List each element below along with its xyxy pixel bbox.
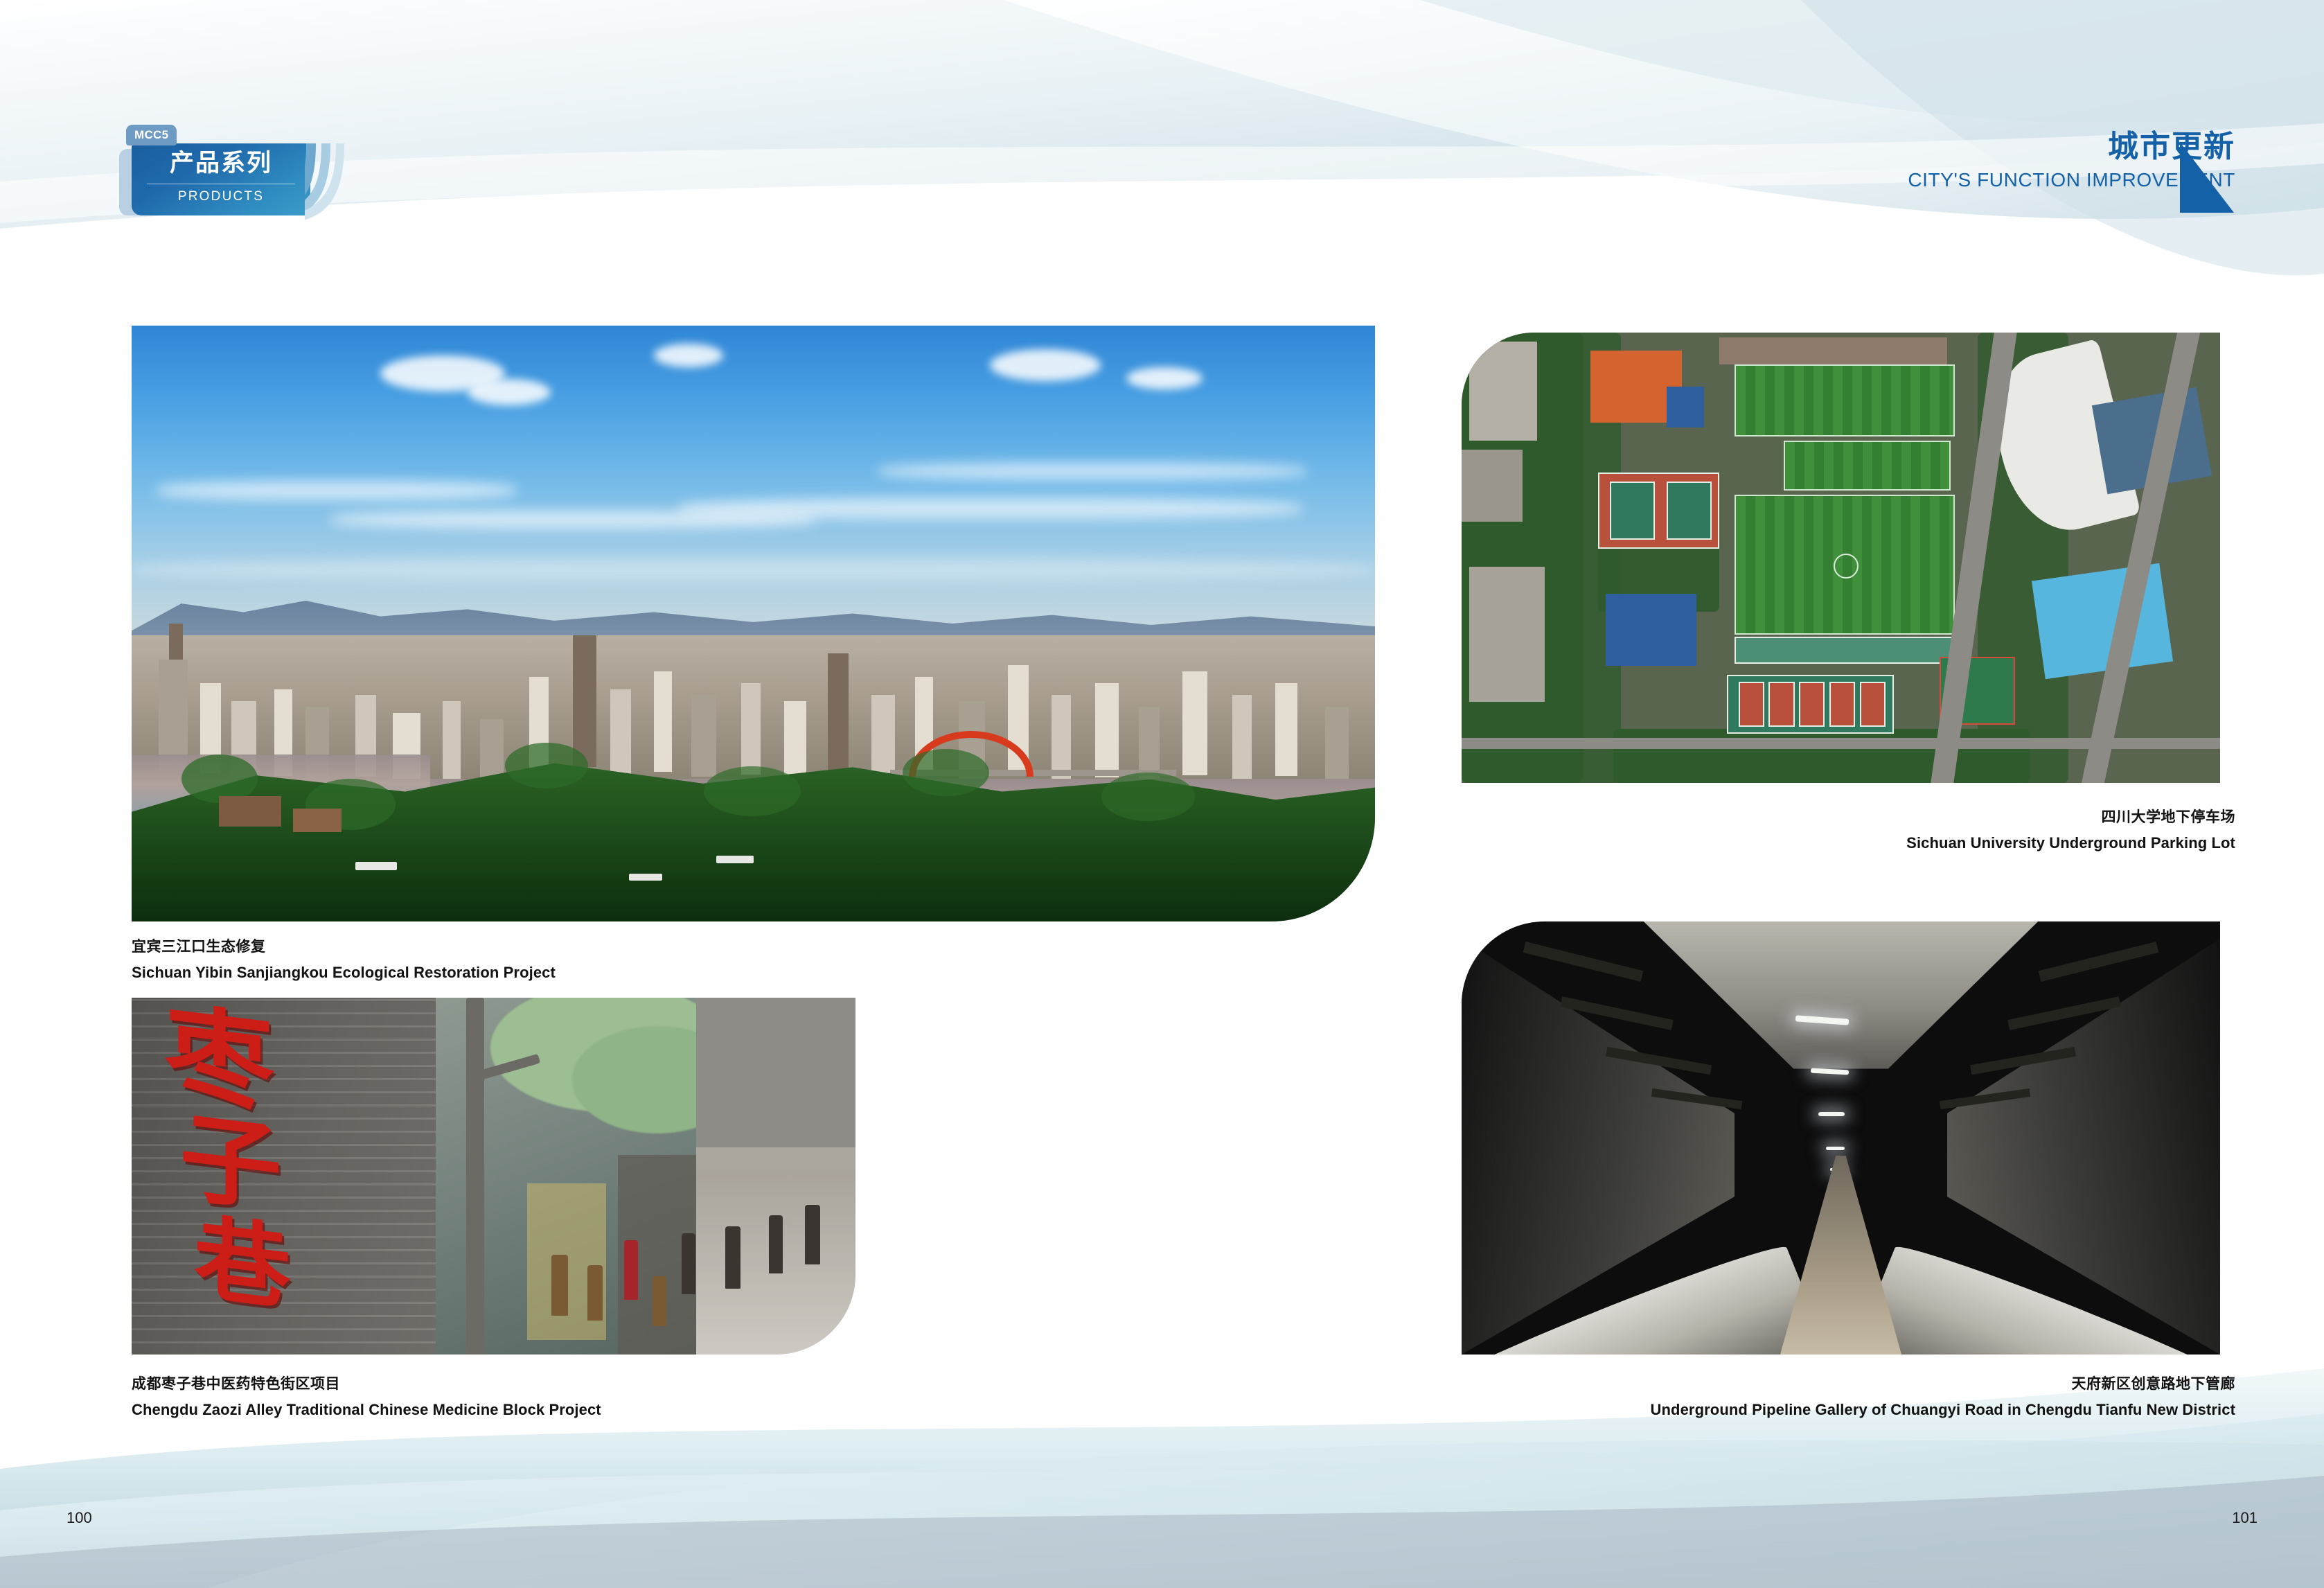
building-roof [1606,594,1696,666]
ceiling-light [1818,1112,1845,1116]
pedestrian [769,1215,783,1273]
building [1232,695,1252,779]
bronze-statue [653,1276,666,1326]
caption-en: Sichuan University Underground Parking L… [1473,832,2235,854]
mcc5-badge: MCC5 [126,125,177,145]
page-number-right: 101 [2232,1509,2258,1527]
bronze-statue [587,1265,603,1321]
building [871,695,895,778]
caption-cn: 四川大学地下停车场 [1473,807,2235,828]
football-pitch [1735,364,1955,436]
building [691,695,716,777]
tennis-court [1610,482,1656,540]
center-circle [1834,554,1859,579]
tree [704,766,801,816]
basketball-court [1799,682,1825,727]
caption-yibin-sanjiangkou: 宜宾三江口生态修复 Sichuan Yibin Sanjiangkou Ecol… [132,937,556,984]
triangle-accent-icon [2176,142,2235,217]
pedestrian [624,1240,638,1300]
photo-chengdu-zaozi-alley[interactable]: 枣 子 巷 [132,998,855,1355]
brand-section-tab: 产品系列 PRODUCTS MCC5 [126,143,337,216]
tunnel-illustration [1462,921,2220,1355]
brand-tab-arc-decoration [305,143,360,215]
multipurpose-courts [1735,637,1955,664]
tennis-court [1667,482,1712,540]
brand-tab-title-cn: 产品系列 [132,149,310,178]
caption-en: Sichuan Yibin Sanjiangkou Ecological Res… [132,962,556,984]
tree [505,743,588,788]
street-buildings [696,998,855,1147]
basketball-court [1739,682,1764,727]
cloud [157,481,517,500]
pedestrian [682,1233,695,1294]
building [1275,683,1297,776]
section-title-cn: 城市更新 [1543,128,2235,166]
boat [629,874,662,881]
cloud [990,349,1101,381]
caption-sichuan-university-parking: 四川大学地下停车场 Sichuan University Underground… [1473,807,2235,854]
brochure-spread: 产品系列 PRODUCTS MCC5 城市更新 CITY'S FUNCTION … [0,0,2324,1588]
cloud [878,463,1307,479]
brand-tab-panel: 产品系列 PRODUCTS [132,143,310,215]
cloud [132,558,1375,581]
building [443,701,461,779]
caption-en: Chengdu Zaozi Alley Traditional Chinese … [132,1399,601,1421]
building [784,701,806,777]
mural-tree-trunk [466,998,484,1355]
bronze-statue [551,1255,568,1316]
photo-yibin-sanjiangkou[interactable] [132,326,1375,921]
building [828,653,849,771]
building-roof [1667,387,1705,427]
street-pavement [696,998,855,1355]
boat [716,856,754,863]
pedestrian [805,1205,820,1264]
caption-chengdu-zaozi-alley: 成都枣子巷中医药特色街区项目 Chengdu Zaozi Alley Tradi… [132,1374,601,1421]
page-number-left: 100 [66,1509,92,1527]
building [1095,683,1119,777]
basketball-court [1768,682,1794,727]
tree [1101,773,1195,821]
swimming-hall-roof [2032,563,2173,679]
building-roof [1719,337,1947,364]
caption-cn: 宜宾三江口生态修复 [132,937,556,958]
brand-tab-title-en: PRODUCTS [132,186,310,207]
tree-belt [1613,729,2030,783]
building [159,660,188,770]
panorama-illustration [132,326,1375,921]
photo-tianfu-pipeline-gallery[interactable] [1462,921,2220,1355]
building [1182,671,1207,775]
brand-tab-divider [147,184,295,184]
caption-en: Underground Pipeline Gallery of Chuangyi… [1335,1399,2235,1421]
building-roof [1462,450,1523,522]
section-title-en: CITY'S FUNCTION IMPROVEMENT [1543,167,2235,193]
aerial-campus-illustration [1462,333,2220,783]
boat [355,862,397,870]
riverside-building [219,796,281,827]
basketball-court [1860,682,1886,727]
alley-mural-illustration: 枣 子 巷 [132,998,855,1355]
caption-tianfu-pipeline-gallery: 天府新区创意路地下管廊 Underground Pipeline Gallery… [1335,1374,2235,1421]
caption-cn: 成都枣子巷中医药特色街区项目 [132,1374,601,1395]
tree [903,749,989,796]
ceiling-light [1826,1147,1845,1150]
building [573,635,596,767]
pedestrian [725,1226,740,1289]
building-roof [1469,567,1545,702]
building [654,671,672,772]
riverside-building [293,809,341,832]
building [1325,707,1349,783]
cloud [654,344,723,367]
arc-stripes-icon [305,143,360,220]
section-title-block: 城市更新 CITY'S FUNCTION IMPROVEMENT [1543,128,2235,193]
cloud [1126,367,1203,389]
cloud [679,498,1302,519]
building [741,683,761,775]
building [610,689,631,776]
basketball-court [1829,682,1855,727]
sign-character-2: 子 [180,1109,282,1219]
photo-sichuan-university-parking[interactable] [1462,333,2220,783]
sign-character-3: 巷 [195,1213,291,1316]
building [1052,695,1071,781]
caption-cn: 天府新区创意路地下管廊 [1335,1374,2235,1395]
building-roof [1469,342,1538,441]
football-pitch [1784,441,1951,491]
